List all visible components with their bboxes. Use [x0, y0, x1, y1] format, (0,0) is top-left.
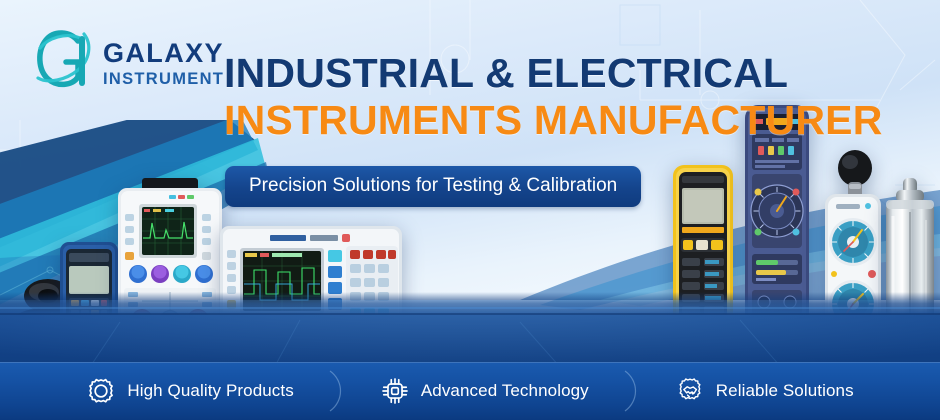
feature-reliable-solutions[interactable]: Reliable Solutions — [649, 376, 880, 406]
brand-name-secondary: INSTRUMENT — [103, 71, 224, 88]
arc-divider-icon — [615, 367, 649, 415]
feature-advanced-technology[interactable]: Advanced Technology — [354, 376, 615, 406]
feature-label: High Quality Products — [127, 381, 294, 401]
feature-label: Reliable Solutions — [716, 381, 854, 401]
arc-divider-icon — [320, 367, 354, 415]
feature-bar: High Quality Products Advanced Technolog… — [0, 362, 940, 420]
handshake-icon — [675, 376, 705, 406]
subtitle-pill: Precision Solutions for Testing & Calibr… — [225, 166, 641, 207]
headline-line-1: INDUSTRIAL & ELECTRICAL — [224, 52, 883, 95]
microchip-icon — [380, 376, 410, 406]
brand-wordmark: GALAXY INSTRUMENT — [103, 34, 224, 88]
promo-banner: GALAXY INSTRUMENT INDUSTRIAL & ELECTRICA… — [0, 0, 940, 420]
gear-icon — [86, 376, 116, 406]
feature-label: Advanced Technology — [421, 381, 589, 401]
brand-logo[interactable]: GALAXY INSTRUMENT — [34, 24, 224, 98]
gi-monogram-icon — [34, 24, 96, 98]
headline-line-2: INSTRUMENTS MANUFACTURER — [224, 99, 883, 142]
feature-high-quality-products[interactable]: High Quality Products — [60, 376, 320, 406]
headline-block: INDUSTRIAL & ELECTRICAL INSTRUMENTS MANU… — [224, 52, 883, 142]
brand-name-primary: GALAXY — [103, 40, 224, 67]
